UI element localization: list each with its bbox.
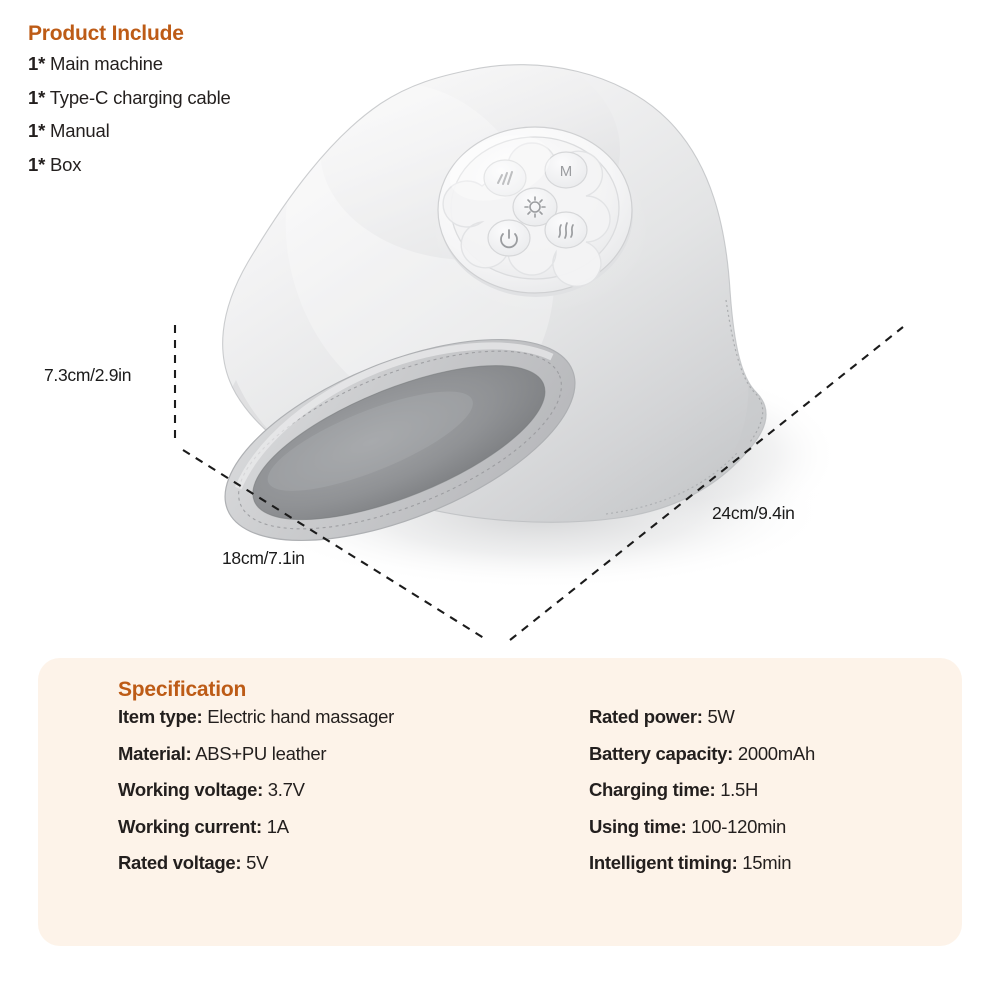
spec-value: 100-120min	[691, 816, 786, 837]
include-item: 1* Type-C charging cable	[28, 89, 428, 108]
spec-row: Using time: 100-120min	[589, 818, 815, 837]
spec-label: Item type:	[118, 706, 202, 727]
specification-left-column: Item type: Electric hand massager Materi…	[118, 708, 394, 891]
include-item: 1* Manual	[28, 122, 428, 141]
product-infographic: M	[0, 0, 1000, 1000]
include-item-label: Manual	[50, 120, 109, 141]
spec-row: Working voltage: 3.7V	[118, 781, 394, 800]
product-shadow-right	[560, 375, 840, 535]
include-item-qty: 1*	[28, 120, 45, 141]
pod-clover-recess	[443, 143, 610, 286]
intensity-bars-icon	[498, 172, 512, 184]
massager-buttons: M	[484, 152, 587, 256]
spec-row: Intelligent timing: 15min	[589, 854, 815, 873]
spec-value: 5V	[246, 852, 268, 873]
spec-label: Intelligent timing:	[589, 852, 737, 873]
heat-wave-icon	[559, 223, 573, 238]
mode-button	[545, 152, 587, 188]
include-item: 1* Box	[28, 156, 428, 175]
massager-cuff	[198, 298, 601, 582]
include-item-qty: 1*	[28, 53, 45, 74]
include-item-label: Main machine	[50, 53, 163, 74]
intensity-button	[484, 160, 526, 196]
specification-panel: Specification Item type: Electric hand m…	[38, 658, 962, 946]
spec-label: Using time:	[589, 816, 686, 837]
power-button	[488, 220, 530, 256]
spec-label: Working current:	[118, 816, 262, 837]
spec-value: 1.5H	[720, 779, 758, 800]
spec-row: Item type: Electric hand massager	[118, 708, 394, 727]
spec-label: Working voltage:	[118, 779, 263, 800]
pod-shadow	[430, 142, 650, 314]
spec-label: Battery capacity:	[589, 743, 733, 764]
spec-row: Rated voltage: 5V	[118, 854, 394, 873]
dimension-lines	[175, 325, 903, 640]
include-item: 1* Main machine	[28, 55, 428, 74]
include-item-label: Type-C charging cable	[50, 87, 231, 108]
spec-row: Material: ABS+PU leather	[118, 745, 394, 764]
product-include-title: Product Include	[28, 22, 428, 46]
sun-icon	[525, 197, 545, 217]
dimension-width-label: 18cm/7.1in	[222, 548, 305, 569]
spec-value: 5W	[707, 706, 734, 727]
letter-m-icon: M	[560, 163, 573, 180]
spec-label: Rated voltage:	[118, 852, 241, 873]
spec-value: Electric hand massager	[207, 706, 394, 727]
spec-label: Material:	[118, 743, 191, 764]
spec-value: 15min	[742, 852, 791, 873]
control-pod: M	[438, 123, 633, 297]
include-item-label: Box	[50, 154, 81, 175]
spec-row: Working current: 1A	[118, 818, 394, 837]
include-item-qty: 1*	[28, 154, 45, 175]
product-include-block: Product Include 1* Main machine 1* Type-…	[28, 22, 428, 189]
dimension-height-label: 7.3cm/2.9in	[44, 365, 131, 386]
dimension-depth-label: 24cm/9.4in	[712, 503, 795, 524]
spec-label: Rated power:	[589, 706, 703, 727]
pod-inner-ring	[451, 137, 619, 279]
dim-depth-line	[510, 327, 903, 640]
cuff-stitch	[216, 314, 584, 565]
dim-width-line	[183, 450, 487, 640]
specification-right-column: Rated power: 5W Battery capacity: 2000mA…	[589, 708, 815, 891]
spec-value: ABS+PU leather	[195, 743, 326, 764]
cuff-opening	[234, 334, 564, 551]
specification-title: Specification	[118, 678, 246, 702]
spec-value: 1A	[267, 816, 289, 837]
spec-value: 3.7V	[268, 779, 305, 800]
thumb-stitch-line	[726, 300, 763, 442]
power-icon	[501, 230, 517, 247]
spec-row: Charging time: 1.5H	[589, 781, 815, 800]
heat-wave-button	[545, 212, 587, 248]
spec-row: Rated power: 5W	[589, 708, 815, 727]
heat-button	[513, 188, 557, 226]
include-item-qty: 1*	[28, 87, 45, 108]
spec-value: 2000mAh	[738, 743, 815, 764]
spec-label: Charging time:	[589, 779, 715, 800]
spec-row: Battery capacity: 2000mAh	[589, 745, 815, 764]
